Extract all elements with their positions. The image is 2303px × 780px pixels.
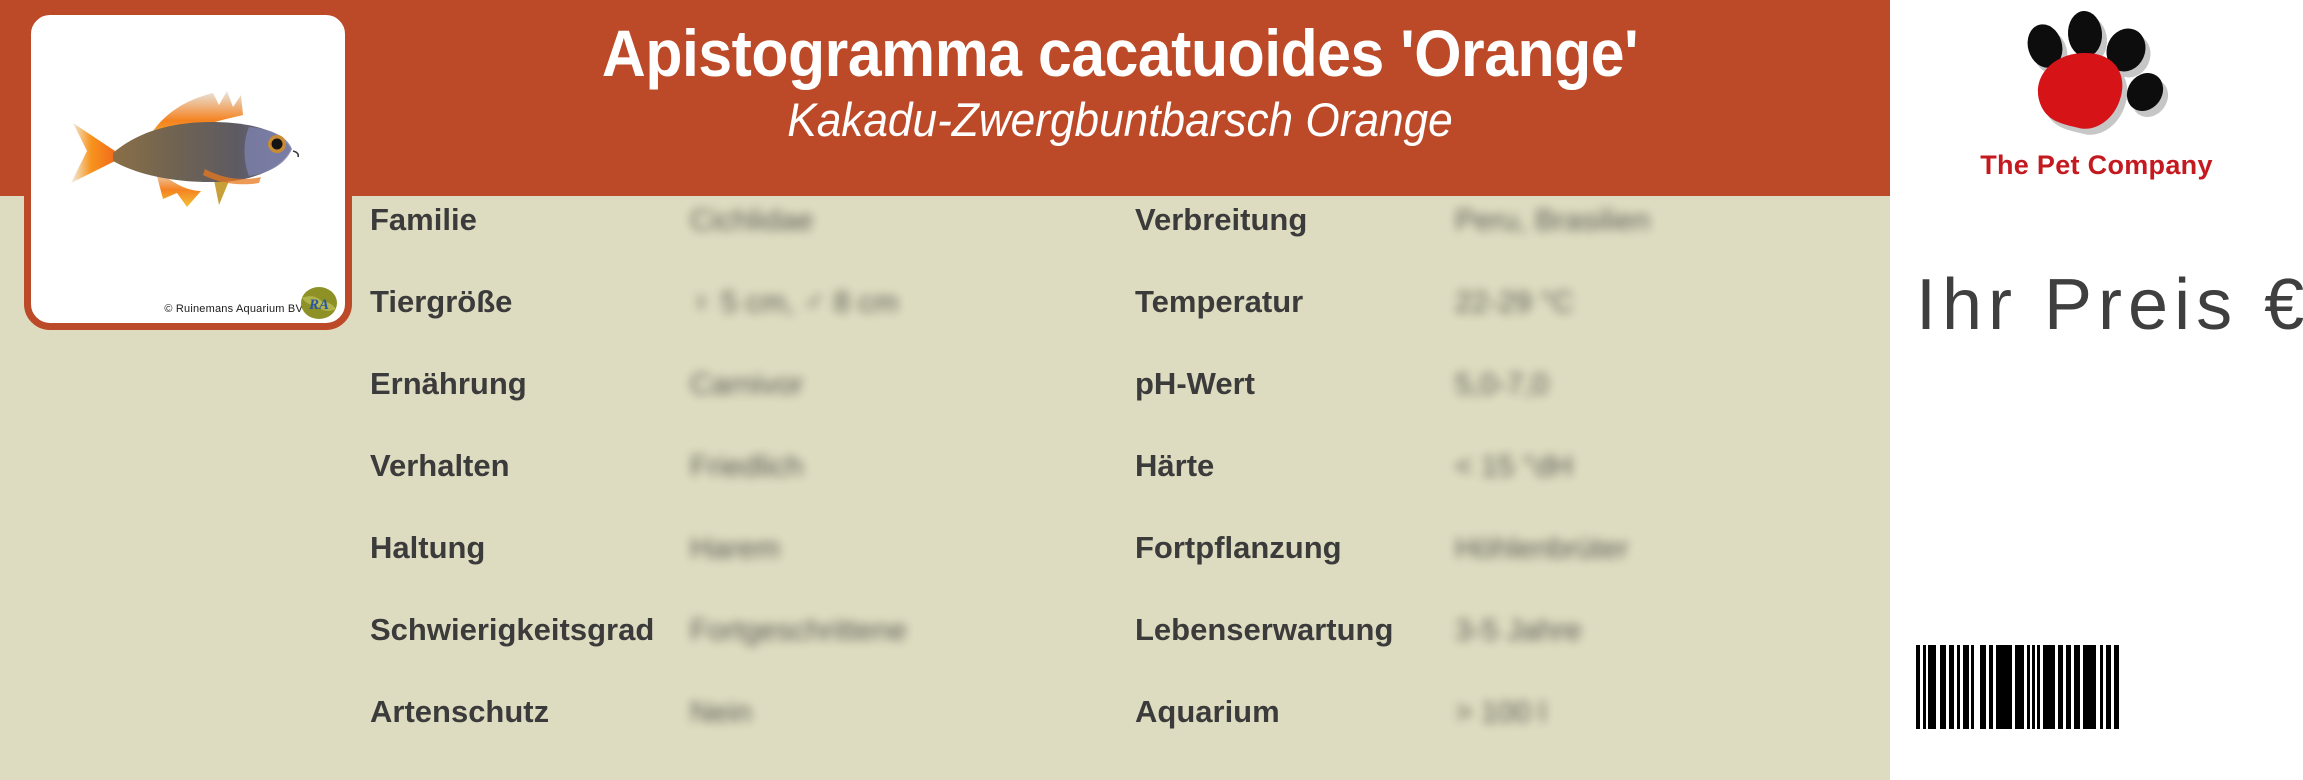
spec-row-artenschutz: Artenschutz Nein [370,694,1115,776]
ruinemans-logo-icon: RA [299,285,339,321]
spec-value-ernaehrung: Carnivor [690,368,1115,402]
spec-row-aquarium: Aquarium > 100 l [1135,694,1880,776]
page-subtitle: Kakadu-Zwergbuntbarsch Orange [415,92,1825,148]
spec-value-temperatur: 22-29 °C [1455,286,1880,320]
spec-row-familie: Familie Cichlidae [370,202,1115,284]
specification-table: Familie Cichlidae Tiergröße ♀ 5 cm, ♂ 8 … [370,202,1880,772]
spec-row-fortpflanzung: Fortpflanzung Höhlenbrüter [1135,530,1880,612]
fish-illustration [37,65,337,245]
barcode-bar [2114,645,2119,729]
spec-row-ph-wert: pH-Wert 5,0-7,0 [1135,366,1880,448]
spec-label-haerte: Härte [1135,448,1455,484]
main-info-panel: Apistogramma cacatuoides 'Orange' Kakadu… [0,0,1890,780]
spec-label-aquarium: Aquarium [1135,694,1455,730]
paw-print-icon [2009,6,2184,141]
spec-row-schwierigkeitsgrad: Schwierigkeitsgrad Fortgeschrittene [370,612,1115,694]
spec-value-artenschutz: Nein [690,696,1115,730]
spec-row-haltung: Haltung Harem [370,530,1115,612]
barcode-bar [2015,645,2024,729]
price-panel: The Pet Company Ihr Preis € [1890,0,2303,780]
spec-label-verhalten: Verhalten [370,448,690,484]
spec-label-schwierigkeitsgrad: Schwierigkeitsgrad [370,612,690,648]
photo-credit: © Ruinemans Aquarium BV [164,303,303,315]
spec-value-verhalten: Friedlich [690,450,1115,484]
barcode-bar [1928,645,1936,729]
barcode-bar [2083,645,2096,729]
spec-label-tiergroesse: Tiergröße [370,284,690,320]
brand-name: The Pet Company [1947,150,2247,181]
spec-label-lebenserwartung: Lebenserwartung [1135,612,1455,648]
spec-label-haltung: Haltung [370,530,690,566]
brand-logo: The Pet Company [1947,6,2247,196]
spec-value-schwierigkeitsgrad: Fortgeschrittene [690,614,1115,648]
spec-label-fortpflanzung: Fortpflanzung [1135,530,1455,566]
spec-row-verhalten: Verhalten Friedlich [370,448,1115,530]
product-label: Apistogramma cacatuoides 'Orange' Kakadu… [0,0,2303,780]
spec-row-tiergroesse: Tiergröße ♀ 5 cm, ♂ 8 cm [370,284,1115,366]
barcode-bar [1996,645,2012,729]
spec-value-fortpflanzung: Höhlenbrüter [1455,532,1880,566]
spec-value-haltung: Harem [690,532,1115,566]
spec-row-ernaehrung: Ernährung Carnivor [370,366,1115,448]
ra-badge-text: RA [308,297,329,313]
spec-label-ph-wert: pH-Wert [1135,366,1455,402]
spec-value-verbreitung: Peru, Brasilien [1455,204,1880,238]
barcode [1916,645,2276,729]
spec-label-familie: Familie [370,202,690,238]
spec-row-haerte: Härte < 15 °dH [1135,448,1880,530]
spec-value-aquarium: > 100 l [1455,696,1880,730]
spec-column-right: Verbreitung Peru, Brasilien Temperatur 2… [1135,202,1880,776]
spec-label-verbreitung: Verbreitung [1135,202,1455,238]
spec-row-verbreitung: Verbreitung Peru, Brasilien [1135,202,1880,284]
spec-label-temperatur: Temperatur [1135,284,1455,320]
spec-row-temperatur: Temperatur 22-29 °C [1135,284,1880,366]
spec-value-haerte: < 15 °dH [1455,450,1880,484]
spec-value-tiergroesse: ♀ 5 cm, ♂ 8 cm [690,286,1115,320]
title-block: Apistogramma cacatuoides 'Orange' Kakadu… [370,14,1870,148]
price-label: Ihr Preis € [1890,262,2303,348]
page-title: Apistogramma cacatuoides 'Orange' [430,14,1810,92]
spec-row-lebenserwartung: Lebenserwartung 3-5 Jahre [1135,612,1880,694]
spec-value-ph-wert: 5,0-7,0 [1455,368,1880,402]
barcode-bar [2043,645,2055,729]
spec-value-lebenserwartung: 3-5 Jahre [1455,614,1880,648]
spec-label-ernaehrung: Ernährung [370,366,690,402]
species-photo-card: © Ruinemans Aquarium BV RA [24,8,352,330]
spec-column-left: Familie Cichlidae Tiergröße ♀ 5 cm, ♂ 8 … [370,202,1115,776]
spec-label-artenschutz: Artenschutz [370,694,690,730]
spec-value-familie: Cichlidae [690,204,1115,238]
